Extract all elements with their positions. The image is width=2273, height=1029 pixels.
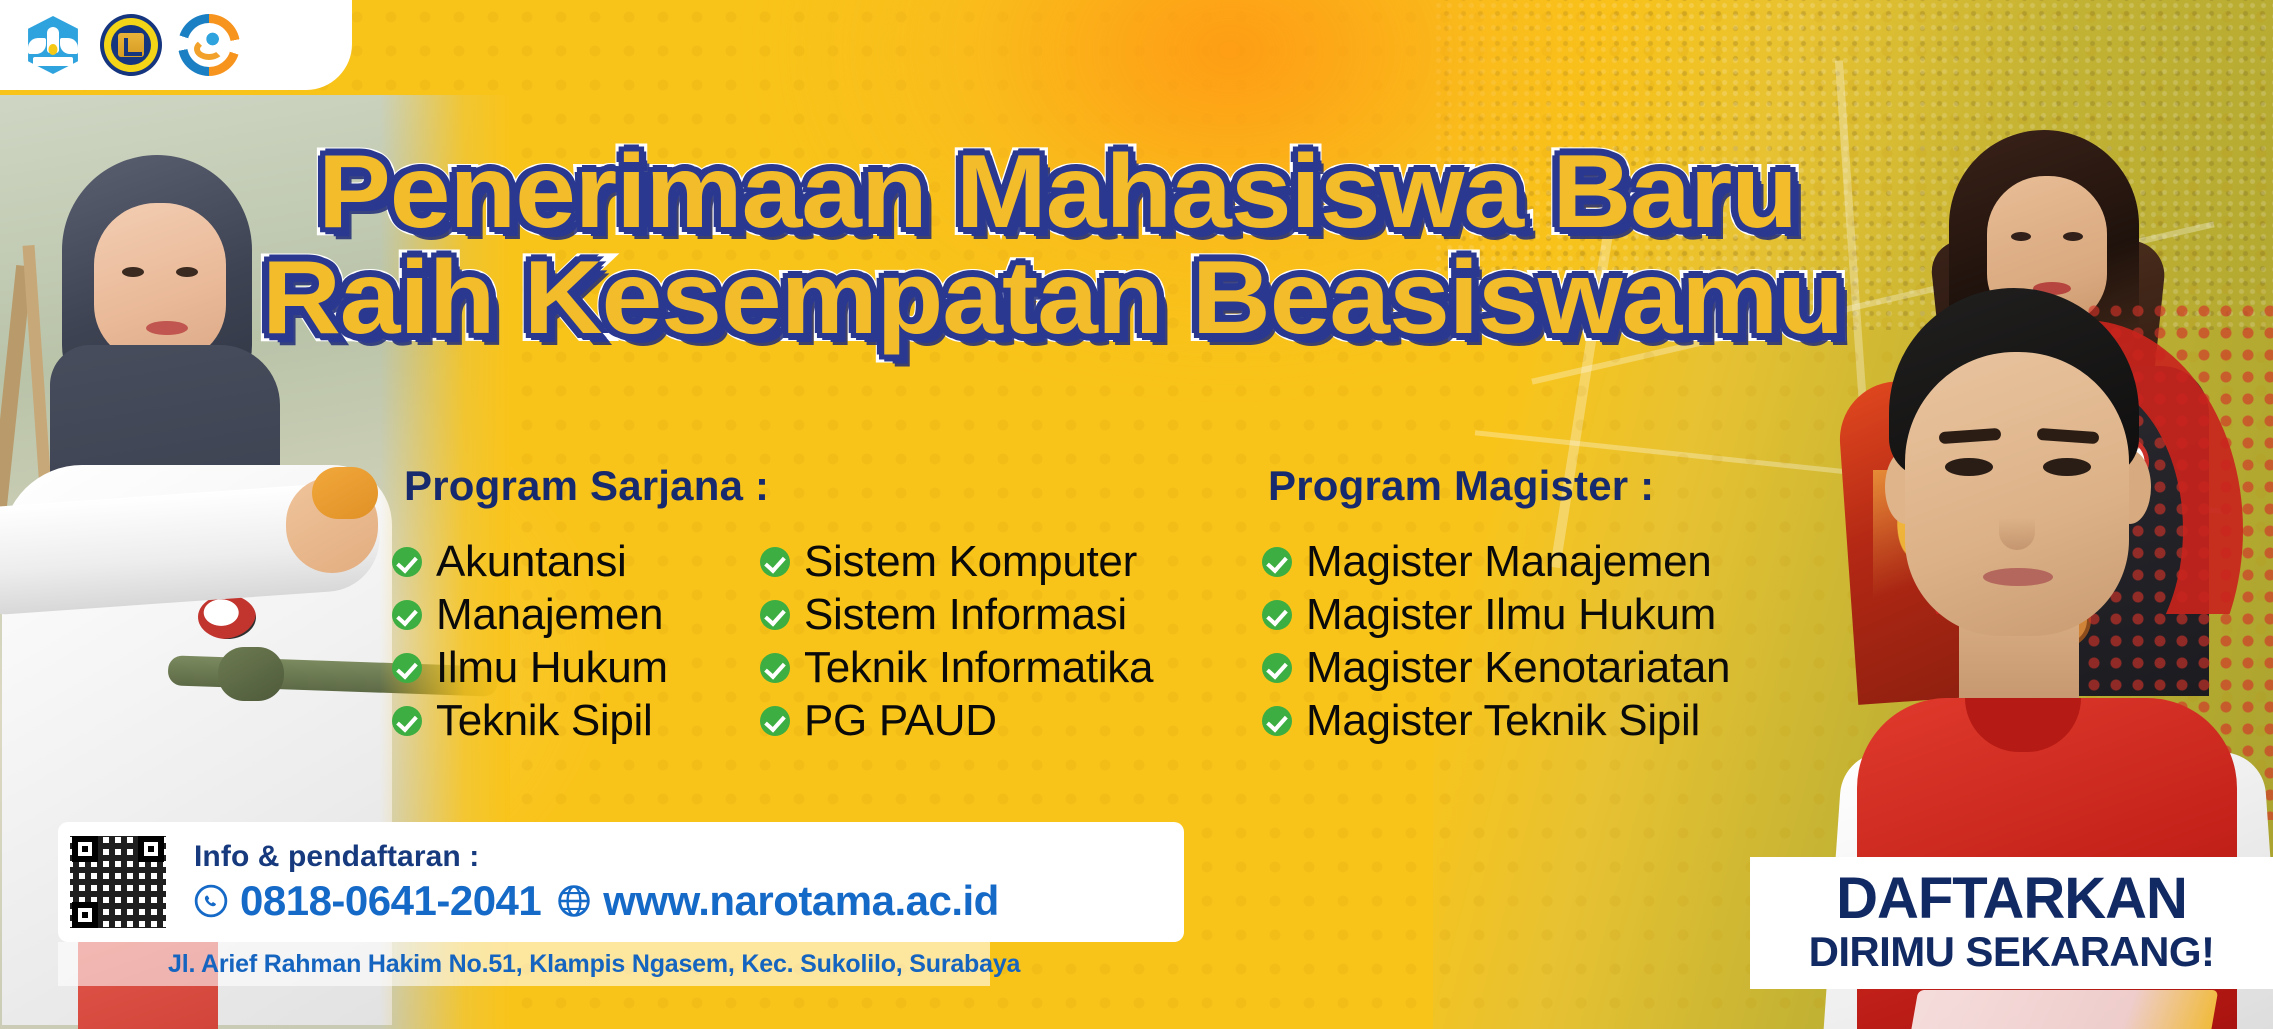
check-circle-icon [392,547,422,577]
cta-banner[interactable]: DAFTARKAN DIRIMU SEKARANG! [1750,857,2273,989]
program-sarjana-list-column-a: Akuntansi Manajemen Ilmu Hukum Teknik Si… [392,535,668,747]
check-circle-icon [760,706,790,736]
program-label: PG PAUD [804,696,997,746]
website-contact[interactable]: www.narotama.ac.id [557,877,999,925]
list-item: Magister Manajemen [1262,535,1730,588]
check-circle-icon [1262,547,1292,577]
list-item: Sistem Informasi [760,588,1153,641]
check-circle-icon [760,547,790,577]
check-circle-icon [392,706,422,736]
program-label: Ilmu Hukum [436,643,668,693]
program-label: Teknik Sipil [436,696,653,746]
check-circle-icon [1262,653,1292,683]
program-label: Magister Manajemen [1306,537,1711,587]
phone-contact[interactable]: 0818-0641-2041 [194,877,541,925]
program-label: Magister Teknik Sipil [1306,696,1700,746]
address-strip: Jl. Arief Rahman Hakim No.51, Klampis Ng… [58,942,990,986]
program-label: Magister Ilmu Hukum [1306,590,1716,640]
promo-banner: Penerimaan Mahasiswa Baru Raih Kesempata… [0,0,2273,1029]
headline: Penerimaan Mahasiswa Baru Raih Kesempata… [318,140,1898,350]
list-item: Manajemen [392,588,668,641]
headline-line-2: Raih Kesempatan Beasiswamu [262,246,1980,350]
program-label: Teknik Informatika [804,643,1153,693]
list-item: Magister Kenotariatan [1262,641,1730,694]
institution-logo-panel [0,0,352,90]
check-circle-icon [392,600,422,630]
list-item: Magister Ilmu Hukum [1262,588,1730,641]
check-circle-icon [760,600,790,630]
program-magister-list: Magister Manajemen Magister Ilmu Hukum M… [1262,535,1730,747]
globe-icon [557,884,591,918]
website-url: www.narotama.ac.id [603,877,999,925]
check-circle-icon [760,653,790,683]
whatsapp-icon [194,884,228,918]
program-label: Akuntansi [436,537,627,587]
program-sarjana-list-column-b: Sistem Komputer Sistem Informasi Teknik … [760,535,1153,747]
list-item: Ilmu Hukum [392,641,668,694]
campus-address: Jl. Arief Rahman Hakim No.51, Klampis Ng… [168,950,1020,979]
tut-wuri-handayani-logo-icon [22,14,84,76]
info-label: Info & pendaftaran : [194,840,999,874]
phone-number: 0818-0641-2041 [240,877,541,925]
cta-line-1: DAFTARKAN [1836,870,2187,928]
program-label: Manajemen [436,590,663,640]
program-label: Sistem Informasi [804,590,1127,640]
check-circle-icon [392,653,422,683]
cta-line-2: DIRIMU SEKARANG! [1809,928,2215,976]
universitas-narotama-logo-icon [100,14,162,76]
check-circle-icon [1262,706,1292,736]
list-item: Teknik Informatika [760,641,1153,694]
program-magister-heading: Program Magister : [1268,462,1654,510]
list-item: Sistem Komputer [760,535,1153,588]
contact-panel: Info & pendaftaran : 0818-0641-2041 [58,822,1184,942]
list-item: PG PAUD [760,694,1153,747]
list-item: Magister Teknik Sipil [1262,694,1730,747]
qr-code[interactable] [70,834,166,930]
headline-line-1: Penerimaan Mahasiswa Baru [318,140,1977,244]
check-circle-icon [1262,600,1292,630]
program-label: Magister Kenotariatan [1306,643,1730,693]
program-label: Sistem Komputer [804,537,1137,587]
list-item: Akuntansi [392,535,668,588]
program-sarjana-heading: Program Sarjana : [404,462,769,510]
list-item: Teknik Sipil [392,694,668,747]
diktisaintek-berdampak-logo-icon [178,14,240,76]
